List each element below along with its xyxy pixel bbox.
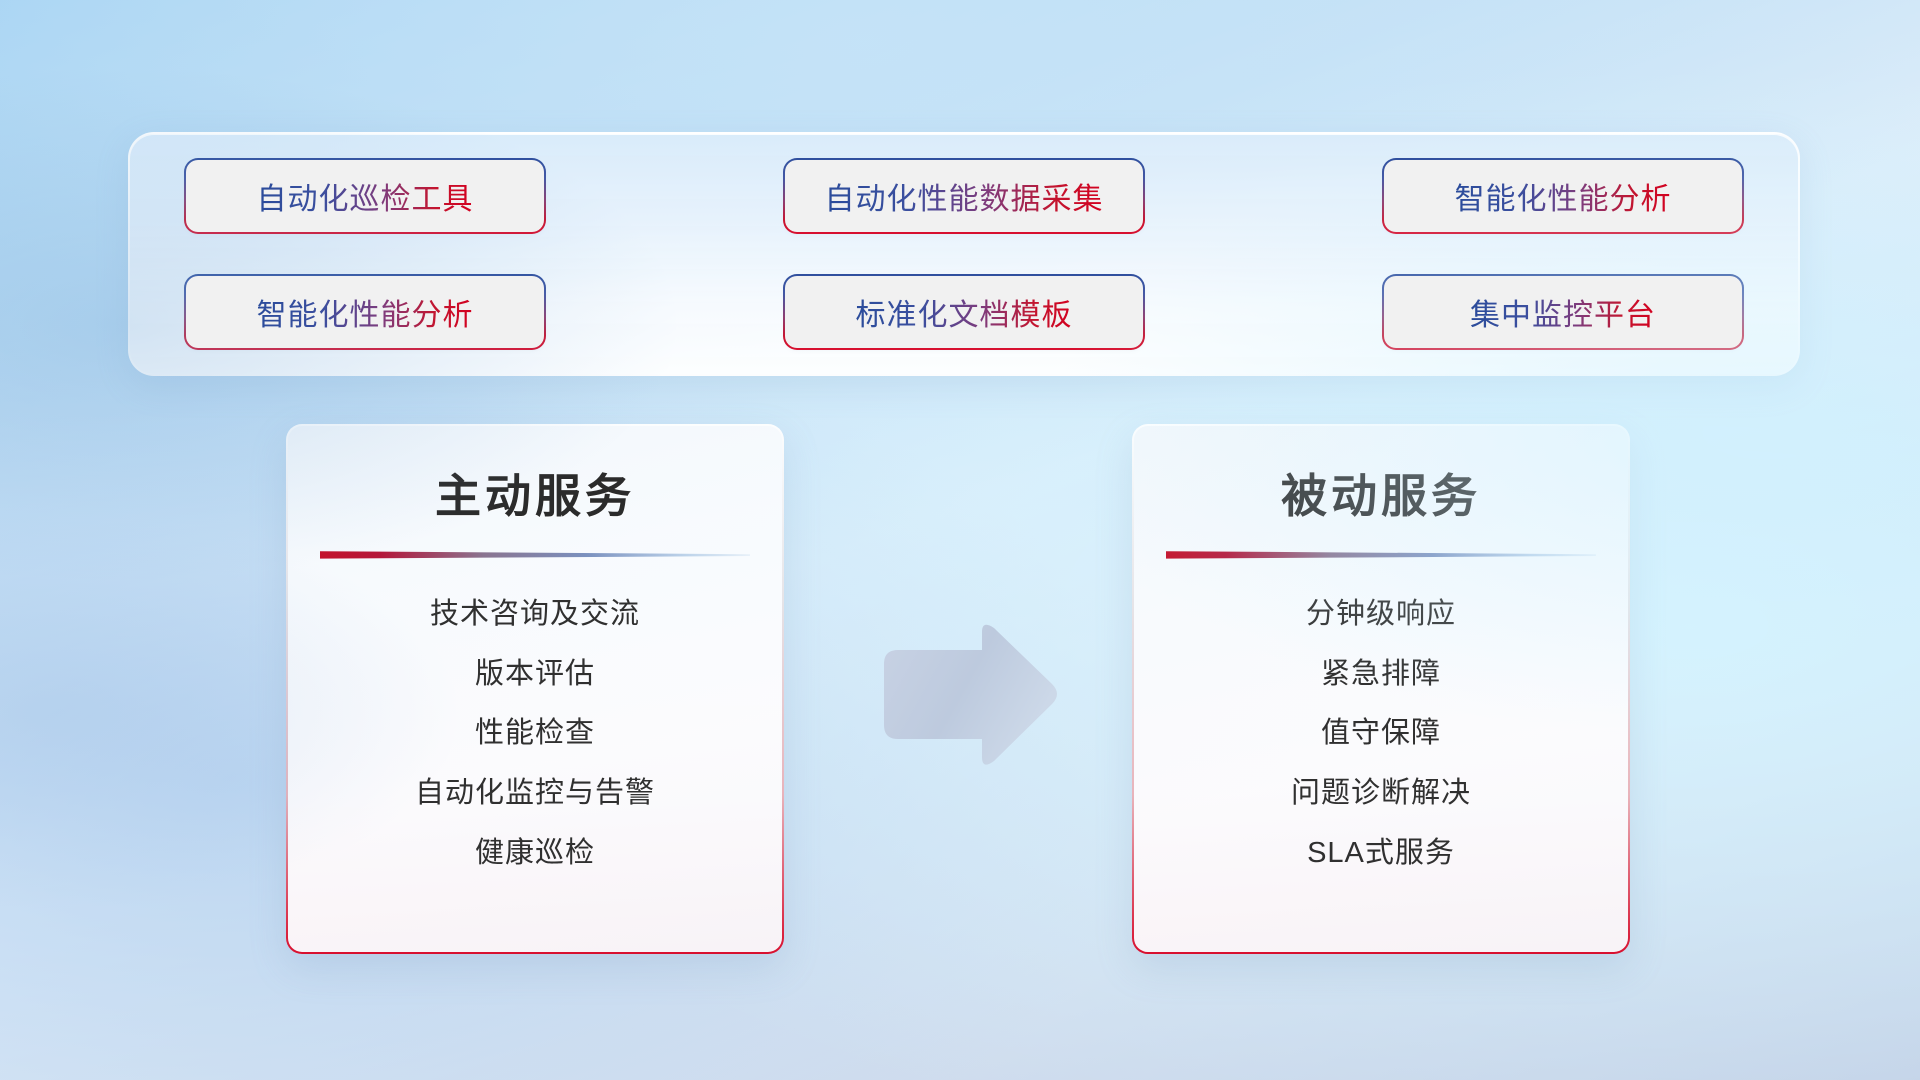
capability-panel: 自动化巡检工具 自动化性能数据采集 智能化性能分析 智能化性能分析 标准化文档模…: [128, 132, 1800, 376]
service-card-list: 分钟级响应 紧急排障 值守保障 问题诊断解决 SLA式服务: [1164, 596, 1598, 872]
capability-pill-2-1[interactable]: 智能化性能分析: [186, 276, 544, 348]
slide-canvas: 自动化巡检工具 自动化性能数据采集 智能化性能分析 智能化性能分析 标准化文档模…: [0, 0, 1920, 1080]
title-divider: [1166, 550, 1596, 560]
service-card-passive: 被动服务: [1132, 424, 1630, 954]
title-divider: [320, 550, 750, 560]
capability-pill-2-2[interactable]: 标准化文档模板: [785, 276, 1143, 348]
service-card-active: 主动服务: [286, 424, 784, 954]
capability-row-1: 自动化巡检工具 自动化性能数据采集 智能化性能分析: [186, 160, 1742, 232]
list-item: 健康巡检: [475, 835, 595, 873]
list-item: 值守保障: [1321, 715, 1441, 753]
capability-pill-label: 自动化巡检工具: [257, 174, 474, 218]
service-card-body: 被动服务: [1134, 426, 1628, 952]
service-card-title: 被动服务: [1281, 460, 1481, 526]
capability-pill-label: 标准化文档模板: [856, 290, 1073, 334]
capability-pill-label: 智能化性能分析: [1455, 174, 1672, 218]
arrow-right-icon: [870, 620, 1060, 770]
service-card-list: 技术咨询及交流 版本评估 性能检查 自动化监控与告警 健康巡检: [318, 596, 752, 872]
list-item: 问题诊断解决: [1291, 775, 1471, 813]
list-item: 自动化监控与告警: [415, 775, 655, 813]
list-item: 紧急排障: [1321, 656, 1441, 694]
capability-pill-2-3[interactable]: 集中监控平台: [1384, 276, 1742, 348]
capability-row-2: 智能化性能分析 标准化文档模板 集中监控平台: [186, 276, 1742, 348]
list-item: 分钟级响应: [1306, 596, 1456, 634]
capability-pill-1-3[interactable]: 智能化性能分析: [1384, 160, 1742, 232]
capability-pill-1-1[interactable]: 自动化巡检工具: [186, 160, 544, 232]
list-item: 版本评估: [475, 656, 595, 694]
capability-pill-1-2[interactable]: 自动化性能数据采集: [785, 160, 1143, 232]
service-card-title: 主动服务: [435, 460, 635, 526]
list-item: 性能检查: [475, 715, 595, 753]
list-item: 技术咨询及交流: [430, 596, 640, 634]
capability-pill-label: 自动化性能数据采集: [825, 174, 1104, 218]
service-card-body: 主动服务: [288, 426, 782, 952]
list-item: SLA式服务: [1307, 835, 1455, 873]
capability-pill-label: 智能化性能分析: [257, 290, 474, 334]
capability-pill-label: 集中监控平台: [1470, 290, 1656, 334]
